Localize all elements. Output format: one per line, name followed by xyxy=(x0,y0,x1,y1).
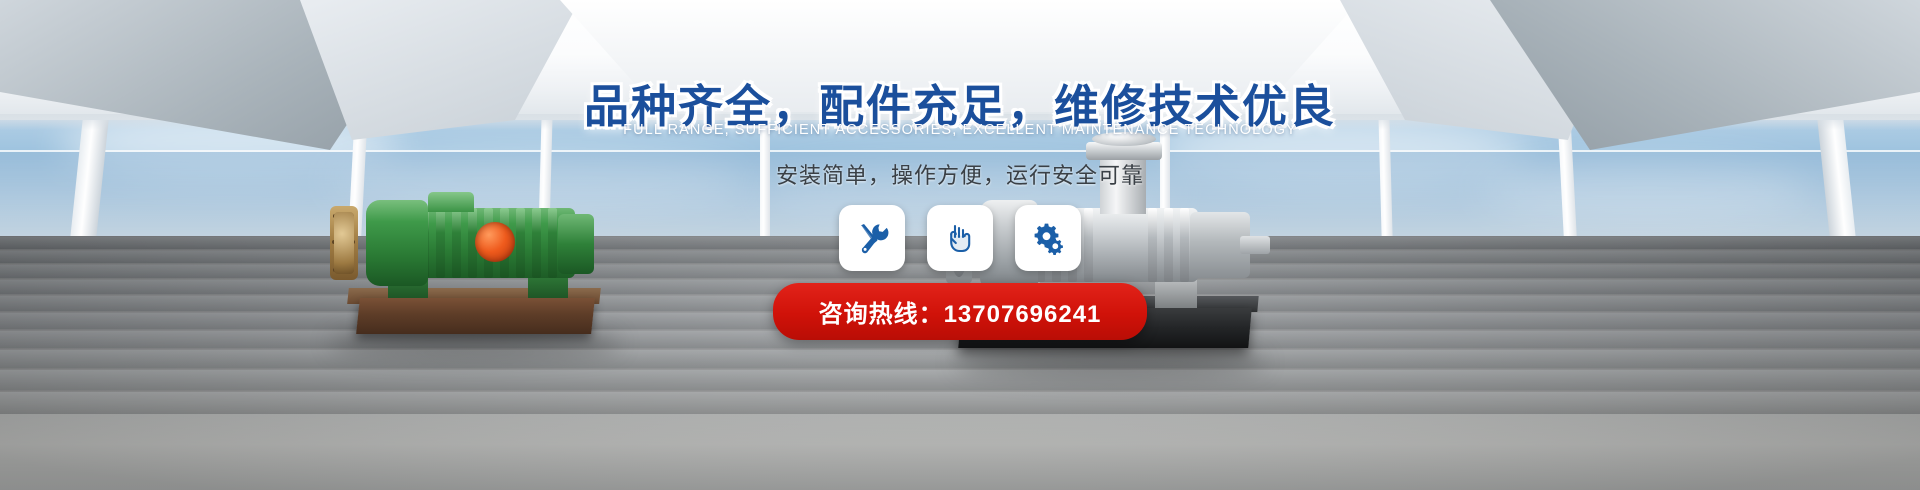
hotline-container: 咨询热线：13707696241 xyxy=(0,283,1920,340)
pointing-hand-icon xyxy=(943,221,977,255)
feature-tile-reliability[interactable] xyxy=(1015,205,1081,271)
hotline-pill[interactable]: 咨询热线：13707696241 xyxy=(773,283,1148,340)
promo-banner: 品种齐全，配件充足，维修技术优良 FULL RANGE, SUFFICIENT … xyxy=(0,0,1920,490)
feature-tile-maintenance[interactable] xyxy=(839,205,905,271)
gears-icon xyxy=(1031,221,1065,255)
banner-subtitle-english: FULL RANGE, SUFFICIENT ACCESSORIES, EXCE… xyxy=(0,122,1920,138)
feature-icon-row xyxy=(0,205,1920,271)
feature-tile-easy-operation[interactable] xyxy=(927,205,993,271)
wrench-screwdriver-icon xyxy=(855,221,889,255)
banner-subtitle-chinese: 安装简单，操作方便，运行安全可靠 xyxy=(0,158,1920,190)
